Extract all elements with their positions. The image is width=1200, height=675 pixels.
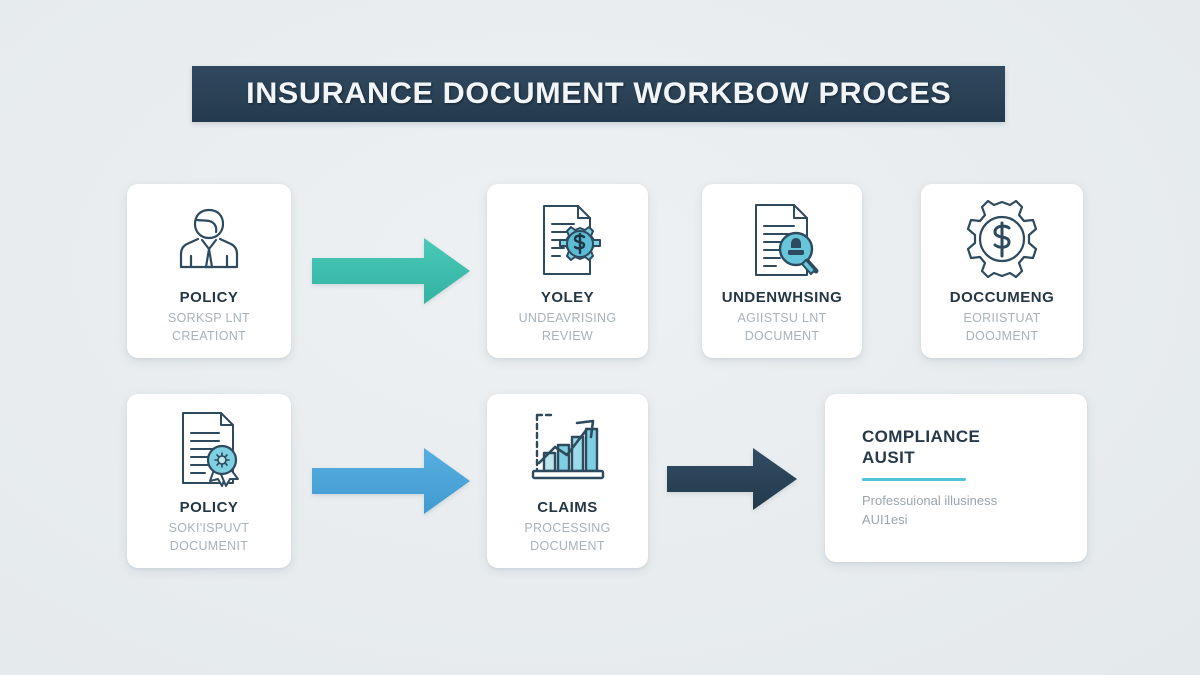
flow-arrow-2: [312, 446, 470, 516]
process-node-underwriting-document[interactable]: UNDENWHSING AGIISTSU LNT DOCUMENT: [702, 184, 862, 358]
flow-arrow-3: [667, 446, 797, 512]
certificate-seal-icon: [168, 407, 250, 493]
person-agent-icon: [169, 197, 249, 283]
accent-rule: [862, 478, 966, 481]
node-subtitle: AGIISTSU LNT DOCUMENT: [737, 310, 826, 345]
node-title: POLICY: [180, 289, 239, 306]
document-gear-dollar-icon: [528, 197, 608, 283]
process-node-compliance-audit[interactable]: COMPLIANCE AUSIT Professuional illusines…: [825, 394, 1087, 562]
process-node-underwriting-review[interactable]: YOLEY UNDEAVRISING REVIEW: [487, 184, 648, 358]
process-node-policy-document[interactable]: POLICY SOKI'ISPUVT DOCUMENIT: [127, 394, 291, 568]
node-title: CLAIMS: [537, 499, 598, 516]
node-subtitle: UNDEAVRISING REVIEW: [519, 310, 617, 345]
node-title: POLICY: [180, 499, 239, 516]
document-magnifier-icon: [742, 197, 822, 283]
bar-chart-growth-icon: [527, 407, 609, 493]
process-node-document-review[interactable]: DOCCUMENG EORIISTUAT DOOJMENT: [921, 184, 1083, 358]
node-subtitle: PROCESSING DOCUMENT: [524, 520, 610, 555]
page-title: INSURANCE DOCUMENT WORKBOW PROCES: [246, 77, 951, 111]
node-title: UNDENWHSING: [722, 289, 843, 306]
node-title: COMPLIANCE AUSIT: [862, 426, 980, 469]
title-banner: INSURANCE DOCUMENT WORKBOW PROCES: [192, 66, 1005, 122]
node-subtitle: SOKI'ISPUVT DOCUMENIT: [169, 520, 250, 555]
process-node-claims-processing[interactable]: CLAIMS PROCESSING DOCUMENT: [487, 394, 648, 568]
node-title: DOCCUMENG: [950, 289, 1055, 306]
flow-arrow-1: [312, 236, 470, 306]
node-subtitle: Professuional illusiness AUI1esi: [862, 492, 997, 530]
node-subtitle: EORIISTUAT DOOJMENT: [963, 310, 1040, 345]
gear-dollar-icon: [961, 197, 1043, 283]
node-subtitle: SORKSP LNT CREATIONT: [168, 310, 250, 345]
node-title: YOLEY: [541, 289, 594, 306]
process-node-policy-creation[interactable]: POLICY SORKSP LNT CREATIONT: [127, 184, 291, 358]
